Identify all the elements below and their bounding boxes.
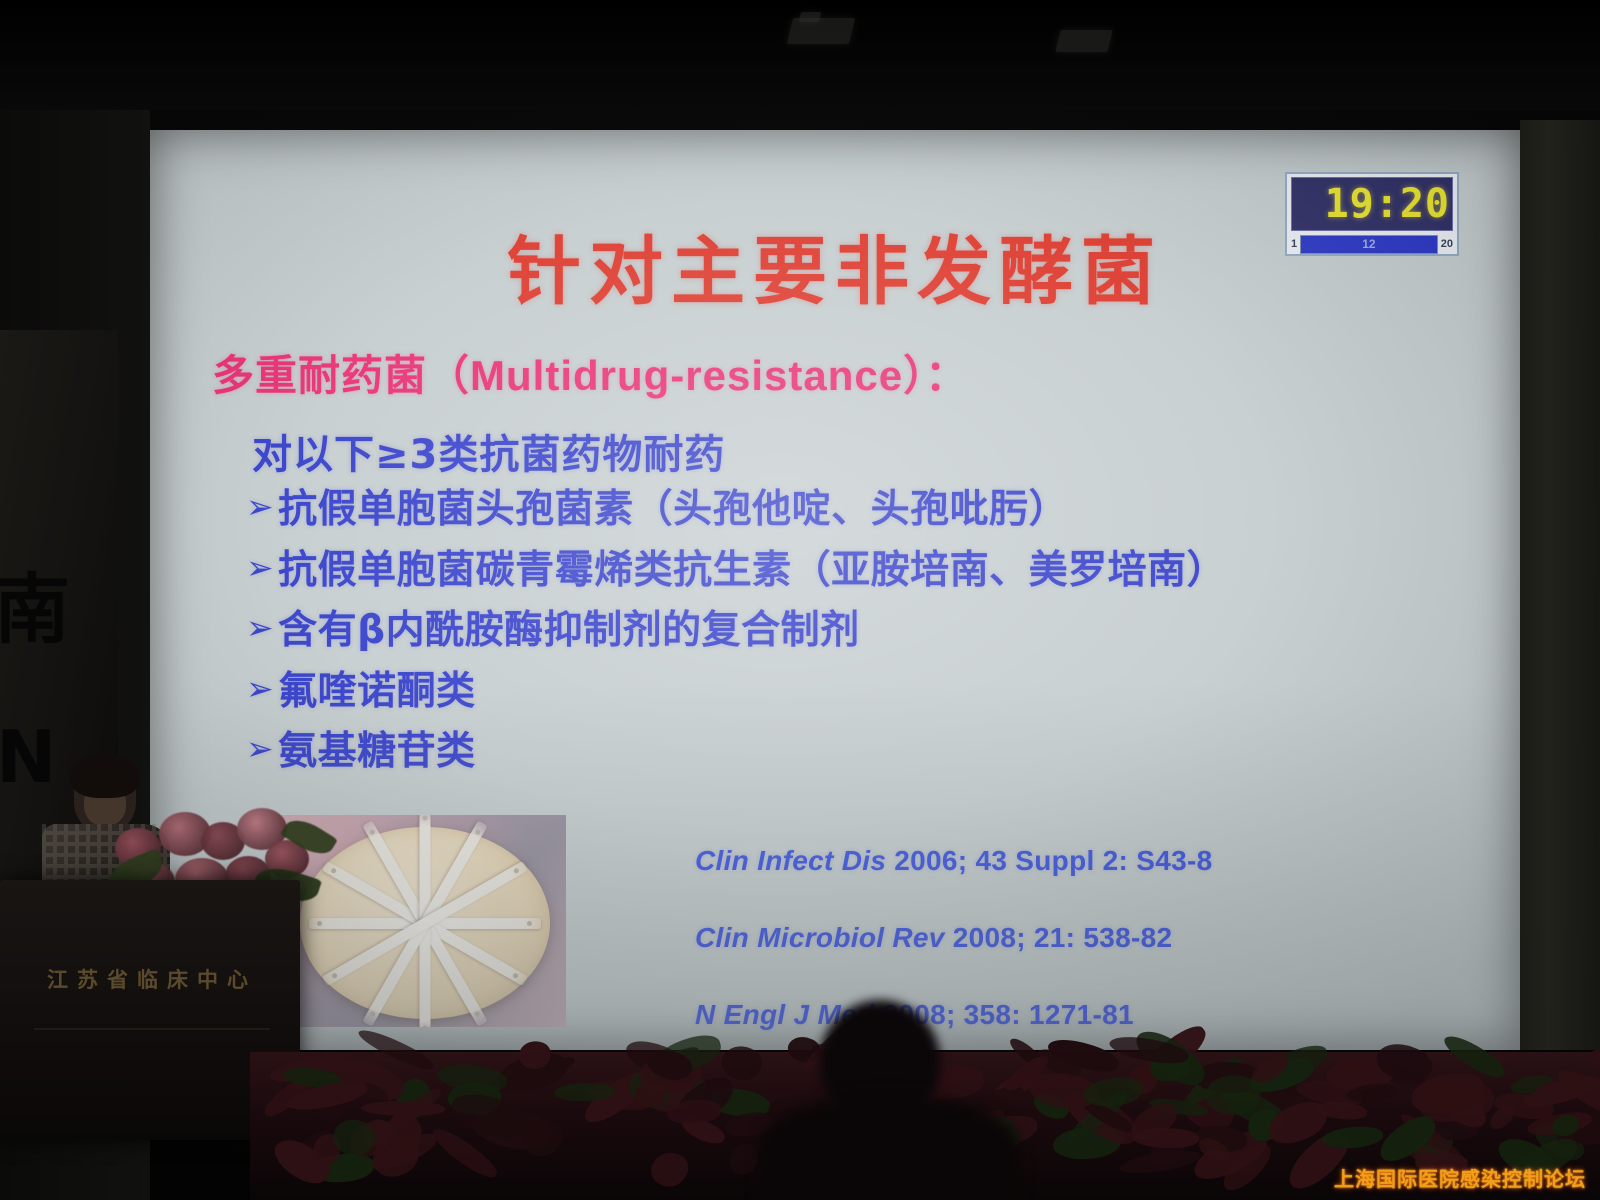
timer-progress-bar[interactable]: 12 <box>1300 235 1438 254</box>
ceiling-light-icon <box>799 12 821 22</box>
list-item: ➢ 含有β内酰胺酶抑制剂的复合制剂 <box>246 607 1486 655</box>
ceiling-light-icon <box>1055 30 1112 52</box>
timer-scale-row: 1 12 20 <box>1291 233 1453 255</box>
right-pillar <box>1520 120 1600 1050</box>
bullet-arrow-icon: ➢ <box>246 486 274 527</box>
audience-shoulder-silhouette <box>760 1095 1020 1200</box>
reference-journal: Clin Microbiol Rev <box>695 922 945 953</box>
presentation-timer[interactable]: 19:20 1 12 20 <box>1285 172 1459 256</box>
list-item: ➢ 氟喹诺酮类 <box>246 668 1486 716</box>
speaker-hair <box>70 754 140 798</box>
ceiling-light-icon <box>787 18 855 44</box>
reference-item: Clin Microbiol Rev 2008; 21: 538-82 <box>695 922 1212 954</box>
timer-digits: 19:20 <box>1325 184 1450 224</box>
ceiling <box>0 0 1600 110</box>
subtitle-cn-part: 多重耐药菌（ <box>212 351 470 400</box>
bullet-arrow-icon: ➢ <box>246 668 274 709</box>
reference-citation: 2006; 43 Suppl 2: S43-8 <box>886 845 1212 876</box>
timer-progress-value: 12 <box>1301 237 1437 251</box>
backdrop-character-top: 南 <box>0 548 72 658</box>
timer-scale-min: 1 <box>1291 238 1297 250</box>
bullet-text: 抗假单胞菌碳青霉烯类抗生素（亚胺培南、美罗培南） <box>278 547 1226 595</box>
bullet-text: 氟喹诺酮类 <box>278 668 476 716</box>
podium-trim-line <box>34 1028 270 1030</box>
reference-citation: 2008; 21: 538-82 <box>945 922 1173 953</box>
plant-leaf <box>554 1083 615 1101</box>
list-item: ➢ 抗假单胞菌头孢菌素（头孢他啶、头孢吡肟） <box>246 486 1486 534</box>
bullet-text: 抗假单胞菌头孢菌素（头孢他啶、头孢吡肟） <box>278 486 1068 534</box>
list-item: ➢ 氨基糖苷类 <box>246 728 1486 776</box>
list-item: ➢ 抗假单胞菌碳青霉烯类抗生素（亚胺培南、美罗培南） <box>246 547 1486 595</box>
subtitle-tail-part: ）： <box>903 351 968 400</box>
subtitle-en-part: Multidrug-resistance <box>470 352 903 399</box>
podium-sign-text: 江苏省临床中心 <box>26 964 278 994</box>
reference-journal: Clin Infect Dis <box>695 845 886 876</box>
forum-watermark: 上海国际医院感染控制论坛 <box>1334 1163 1586 1192</box>
bullet-list: ➢ 抗假单胞菌头孢菌素（头孢他啶、头孢吡肟） ➢ 抗假单胞菌碳青霉烯类抗生素（亚… <box>246 486 1486 789</box>
bullet-arrow-icon: ➢ <box>246 607 274 648</box>
screenshot-root: 南 N 针对主要非发酵菌 多重耐药菌（Multidrug-resistance）… <box>0 0 1600 1200</box>
timer-display: 19:20 <box>1291 177 1453 231</box>
bullet-text: 氨基糖苷类 <box>278 728 476 776</box>
agar-plate <box>300 827 550 1019</box>
bullet-arrow-icon: ➢ <box>246 547 274 588</box>
slide-subtitle: 多重耐药菌（Multidrug-resistance）： <box>212 342 968 403</box>
bullet-text: 含有β内酰胺酶抑制剂的复合制剂 <box>278 607 859 655</box>
slide-content: 针对主要非发酵菌 多重耐药菌（Multidrug-resistance）： 对以… <box>150 130 1520 1050</box>
timer-scale-max: 20 <box>1441 238 1453 250</box>
projection-screen: 针对主要非发酵菌 多重耐药菌（Multidrug-resistance）： 对以… <box>150 130 1520 1050</box>
reference-item: Clin Infect Dis 2006; 43 Suppl 2: S43-8 <box>695 845 1212 877</box>
bullet-arrow-icon: ➢ <box>246 728 274 769</box>
slide-lead-text: 对以下≥3类抗菌药物耐药 <box>252 422 725 480</box>
